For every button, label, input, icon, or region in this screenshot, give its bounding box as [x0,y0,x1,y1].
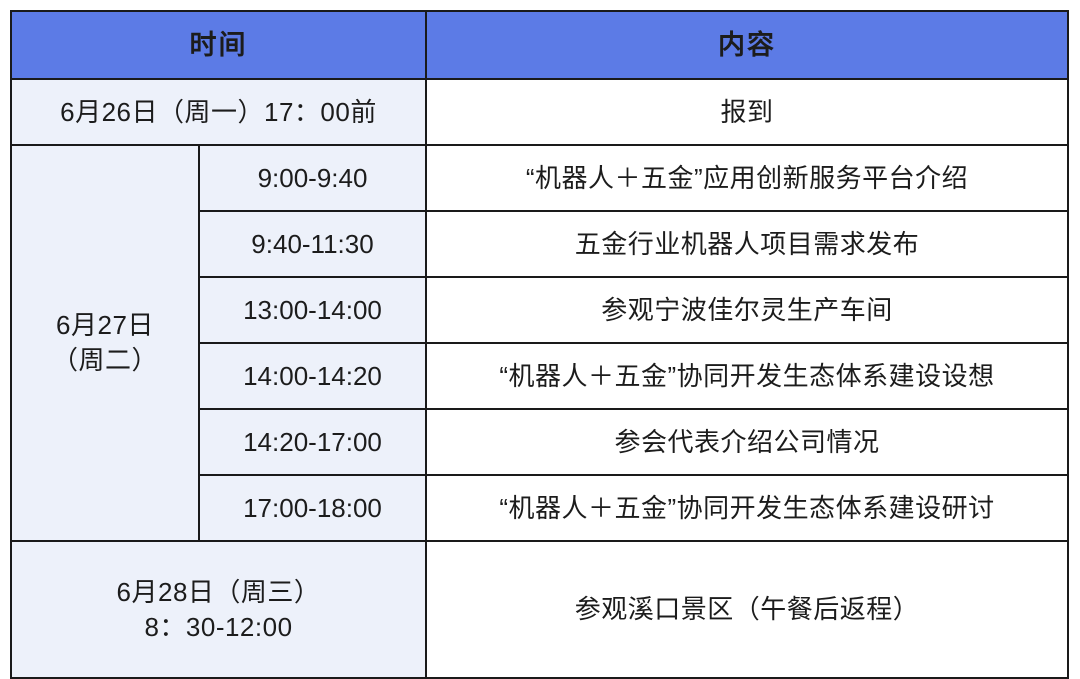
cell-slot-2: 9:40-11:30 [199,211,426,277]
cell-date-june28: 6月28日（周三） 8：30-12:00 [11,541,426,678]
cell-date-june26: 6月26日（周一）17：00前 [11,79,426,145]
table-header: 时间 内容 [11,11,1068,79]
cell-content-june28: 参观溪口景区（午餐后返程） [426,541,1068,678]
table-row-june28: 6月28日（周三） 8：30-12:00 参观溪口景区（午餐后返程） [11,541,1068,678]
cell-content-slot-5: 参会代表介绍公司情况 [426,409,1068,475]
date-line-time: 8：30-12:00 [18,610,419,645]
cell-content-checkin: 报到 [426,79,1068,145]
column-header-content: 内容 [426,11,1068,79]
schedule-container: 时间 内容 6月26日（周一）17：00前 报到 6月27日 （周二） 9:00… [0,0,1080,635]
header-row: 时间 内容 [11,11,1068,79]
date-line-primary: 6月27日 [18,308,192,343]
schedule-table: 时间 内容 6月26日（周一）17：00前 报到 6月27日 （周二） 9:00… [10,10,1069,679]
cell-content-slot-2: 五金行业机器人项目需求发布 [426,211,1068,277]
cell-slot-5: 14:20-17:00 [199,409,426,475]
cell-content-slot-1: “机器人＋五金”应用创新服务平台介绍 [426,145,1068,211]
cell-slot-3: 13:00-14:00 [199,277,426,343]
cell-content-slot-3: 参观宁波佳尔灵生产车间 [426,277,1068,343]
table-body: 6月26日（周一）17：00前 报到 6月27日 （周二） 9:00-9:40 … [11,79,1068,678]
table-row-slot-1: 6月27日 （周二） 9:00-9:40 “机器人＋五金”应用创新服务平台介绍 [11,145,1068,211]
cell-slot-4: 14:00-14:20 [199,343,426,409]
column-header-time: 时间 [11,11,426,79]
cell-content-slot-6: “机器人＋五金”协同开发生态体系建设研讨 [426,475,1068,541]
cell-slot-1: 9:00-9:40 [199,145,426,211]
date-line-weekday: （周二） [18,343,192,378]
table-row-checkin: 6月26日（周一）17：00前 报到 [11,79,1068,145]
cell-date-june27: 6月27日 （周二） [11,145,199,541]
date-line-primary: 6月28日（周三） [18,575,419,610]
cell-slot-6: 17:00-18:00 [199,475,426,541]
cell-content-slot-4: “机器人＋五金”协同开发生态体系建设设想 [426,343,1068,409]
